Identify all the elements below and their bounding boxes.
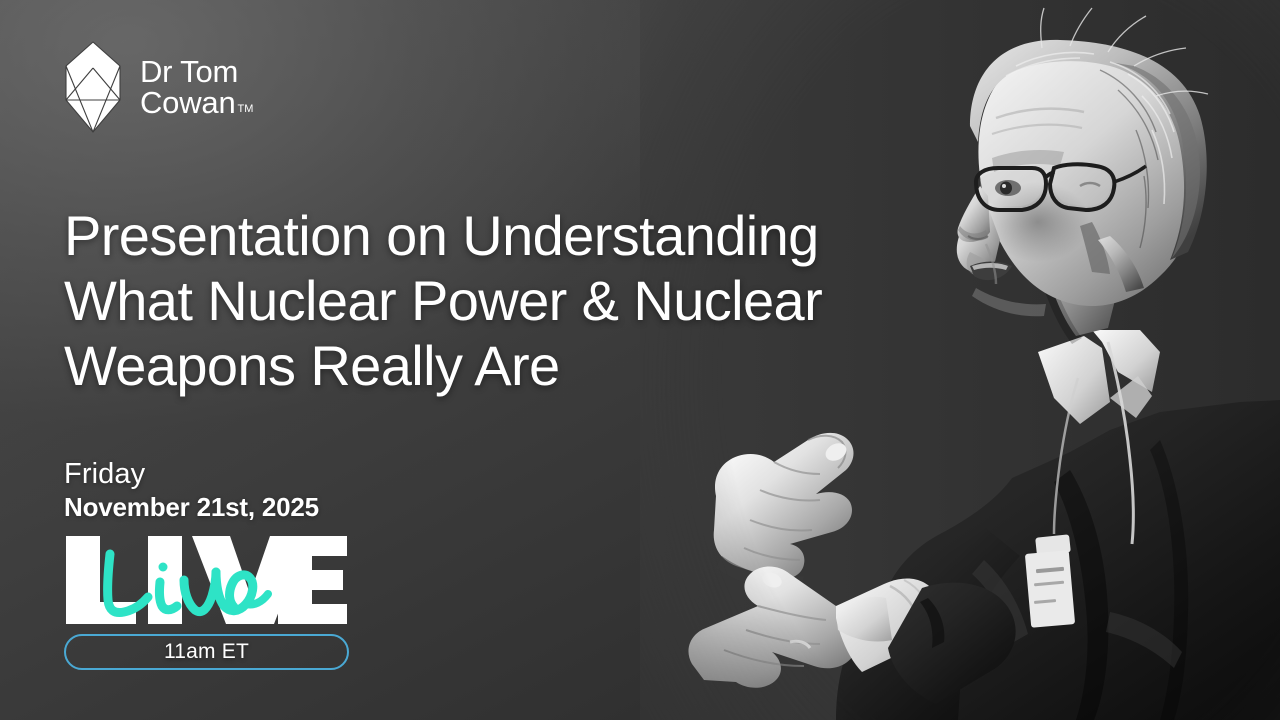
live-wordmark	[64, 534, 349, 626]
event-time-pill: 11am ET	[64, 634, 349, 670]
brand-name: Dr Tom Cowan TM	[140, 56, 253, 118]
trademark-symbol: TM	[238, 104, 254, 115]
title-line-1: Presentation on Understanding	[64, 204, 944, 269]
promo-graphic: Dr Tom Cowan TM Presentation on Understa…	[0, 0, 1280, 720]
live-badge: 11am ET	[64, 534, 349, 670]
title-line-3: Weapons Really Are	[64, 334, 944, 399]
event-day: Friday	[64, 458, 364, 491]
event-time: 11am ET	[164, 640, 249, 664]
brand-name-line1: Dr Tom	[140, 56, 253, 87]
title-line-2: What Nuclear Power & Nuclear	[64, 269, 944, 334]
brand-name-line2: Cowan	[140, 87, 236, 118]
page-title: Presentation on Understanding What Nucle…	[64, 204, 944, 399]
event-schedule: Friday November 21st, 2025	[64, 458, 364, 523]
brand-lockup: Dr Tom Cowan TM	[62, 40, 253, 134]
crystal-gem-icon	[62, 40, 124, 134]
event-date: November 21st, 2025	[64, 492, 364, 523]
